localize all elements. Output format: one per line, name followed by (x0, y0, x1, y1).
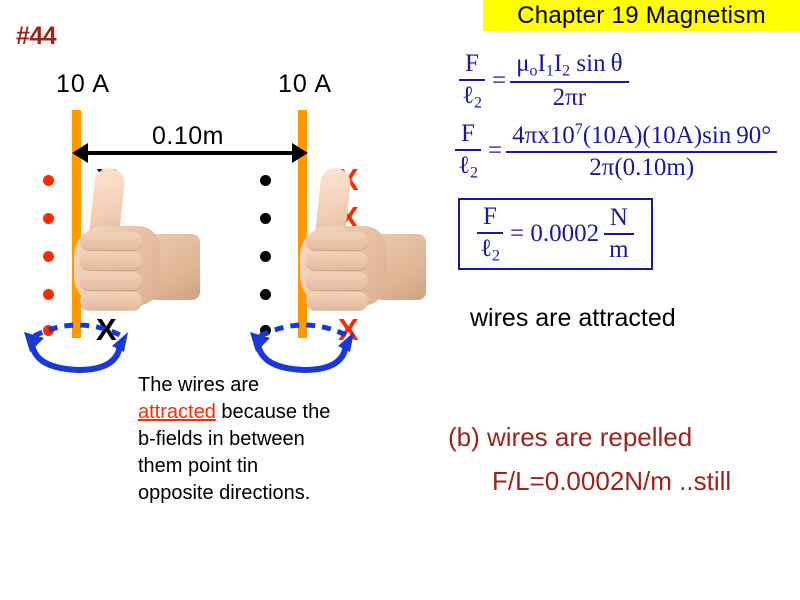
slide-canvas: Chapter 19 Magnetism #44 10 A 10 A 0.10m… (0, 0, 800, 600)
wires-attracted-note: wires are attracted (470, 304, 676, 333)
eq2-lhs-den-sub: 2 (470, 164, 478, 181)
field-dot-right-4 (260, 289, 271, 300)
eq1-rhs-numerator: μoI1I2 sin θ (510, 50, 628, 83)
knuckle-3 (80, 272, 142, 290)
eq2-coefficient: 4πx10 (512, 122, 575, 149)
b-field-loop-left-icon (20, 312, 136, 376)
eq2-equals: = (488, 137, 502, 165)
eq2-rhs-denominator: 2π(0.10m) (583, 153, 700, 182)
eq2-currents-sin: (10A)(10A)sin 90° (583, 122, 772, 149)
field-dot-right-3 (260, 251, 271, 262)
arrow-right-icon (292, 143, 308, 163)
current-label-left: 10 A (56, 70, 110, 99)
eq3-lhs-den-sub: 2 (492, 247, 500, 264)
eq3-unit-fraction: N m (603, 204, 634, 264)
eq1-lhs-fraction: F ℓ2 (456, 50, 488, 112)
knuckle-1 (80, 232, 142, 250)
field-dot-right-2 (260, 213, 271, 224)
current-label-right: 10 A (278, 70, 332, 99)
equation-force-per-length-substituted: F ℓ2 = 4πx107(10A)(10A)sin 90° 2π(0.10m) (448, 120, 781, 182)
eq1-mu-sub: o (530, 62, 538, 79)
eq2-lhs-denominator: ℓ2 (452, 151, 484, 182)
eq1-lhs-den-symbol: ℓ (462, 82, 474, 109)
eq1-sin-theta: sin θ (576, 50, 622, 77)
field-dot-into-left-4 (43, 289, 54, 300)
eq1-lhs-numerator: F (459, 50, 485, 81)
b-field-loop-right (246, 312, 362, 376)
eq1-i1: I (538, 50, 546, 77)
slide-number: #44 (16, 22, 56, 51)
field-dot-right-1 (260, 175, 271, 186)
field-dot-into-left-1 (43, 175, 54, 186)
arrow-left-icon (72, 143, 88, 163)
equation-force-per-length-general: F ℓ2 = μoI1I2 sin θ 2πr (452, 50, 633, 112)
separation-dimension-line (80, 151, 300, 155)
answer-b-line2: F/L=0.0002N/m ..still (492, 466, 731, 497)
knuckle-2 (306, 252, 368, 270)
eq3-lhs-fraction: F ℓ2 (474, 203, 506, 265)
knuckle-4 (80, 292, 142, 310)
eq1-lhs-denominator: ℓ2 (456, 81, 488, 112)
eq1-i1-sub: 1 (546, 62, 554, 79)
eq3-lhs-den-symbol: ℓ (480, 235, 492, 262)
eq2-lhs-fraction: F ℓ2 (452, 120, 484, 182)
eq1-equals: = (492, 67, 506, 95)
separation-label: 0.10m (152, 122, 224, 151)
eq1-mu: μ (516, 50, 529, 77)
equation-result-boxed: F ℓ2 = 0.0002 N m (458, 198, 653, 270)
eq1-i2-sub: 2 (562, 62, 570, 79)
eq2-rhs-numerator: 4πx107(10A)(10A)sin 90° (506, 121, 777, 153)
explanation-part1: The wires are (138, 374, 259, 396)
chapter-title-banner: Chapter 19 Magnetism (483, 0, 800, 31)
eq1-i2: I (554, 50, 562, 77)
explanation-paragraph: The wires are attracted because the b-fi… (138, 372, 338, 507)
field-dot-into-left-2 (43, 213, 54, 224)
right-hand-rule-hand-left (70, 168, 196, 328)
right-hand-rule-hand-right (296, 168, 422, 328)
b-field-loop-left (20, 312, 136, 376)
eq2-lhs-numerator: F (455, 120, 481, 151)
field-dot-into-left-3 (43, 251, 54, 262)
eq3-unit-numerator: N (604, 204, 634, 235)
eq2-exponent: 7 (575, 121, 583, 138)
b-field-loop-right-icon (246, 312, 362, 376)
knuckle-2 (80, 252, 142, 270)
explanation-highlight: attracted (138, 401, 216, 423)
knuckle-3 (306, 272, 368, 290)
eq3-lhs-numerator: F (477, 203, 503, 234)
eq1-rhs-fraction: μoI1I2 sin θ 2πr (510, 50, 628, 112)
eq3-equals-value: = 0.0002 (510, 220, 599, 248)
eq3-unit-denominator: m (603, 235, 634, 264)
eq1-lhs-den-sub: 2 (474, 94, 482, 111)
eq3-lhs-denominator: ℓ2 (474, 234, 506, 265)
answer-b-line1: (b) wires are repelled (448, 422, 692, 453)
knuckle-1 (306, 232, 368, 250)
knuckle-4 (306, 292, 368, 310)
eq1-rhs-denominator: 2πr (547, 83, 592, 112)
eq2-rhs-fraction: 4πx107(10A)(10A)sin 90° 2π(0.10m) (506, 121, 777, 182)
eq2-lhs-den-symbol: ℓ (458, 152, 470, 179)
